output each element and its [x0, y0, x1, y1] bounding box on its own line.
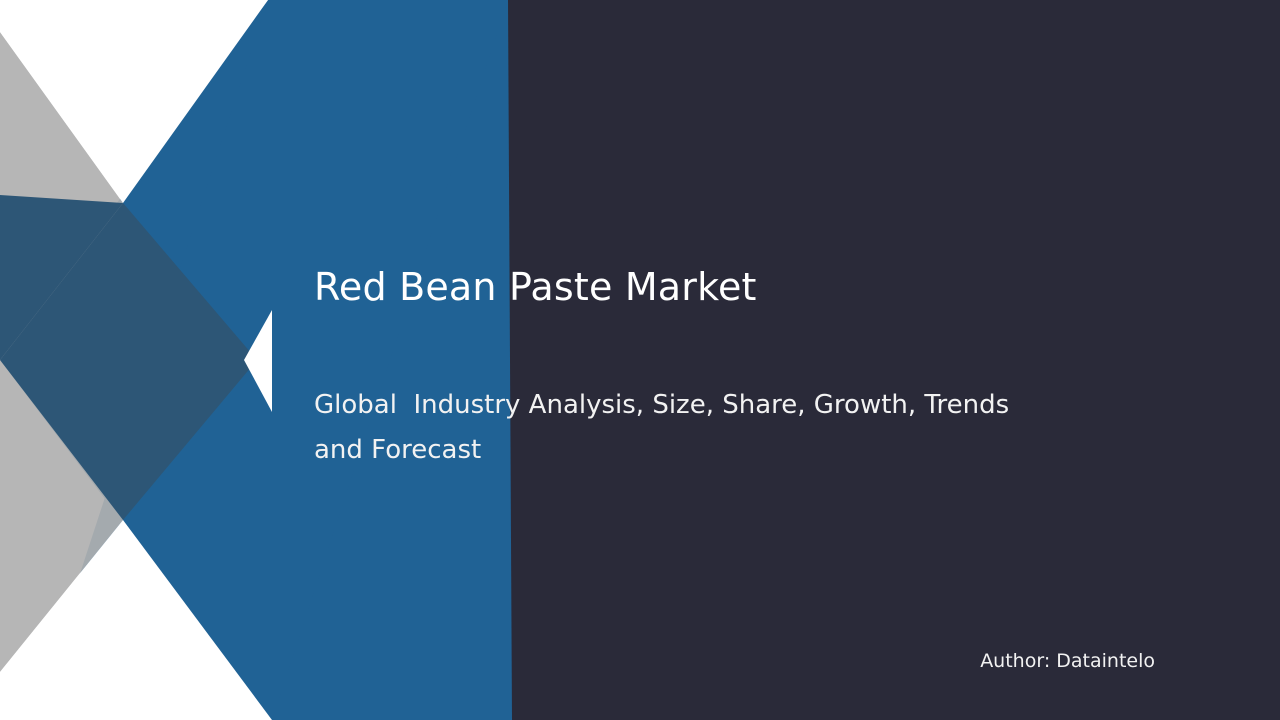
title-slide: Red Bean Paste Market Global Industry An… [0, 0, 1280, 720]
page-title: Red Bean Paste Market [314, 264, 1214, 312]
author-credit: Author: Dataintelo [760, 650, 1155, 672]
slide-text-layer: Red Bean Paste Market Global Industry An… [0, 0, 1280, 720]
slide-subtitle: Global Industry Analysis, Size, Share, G… [314, 383, 1014, 472]
